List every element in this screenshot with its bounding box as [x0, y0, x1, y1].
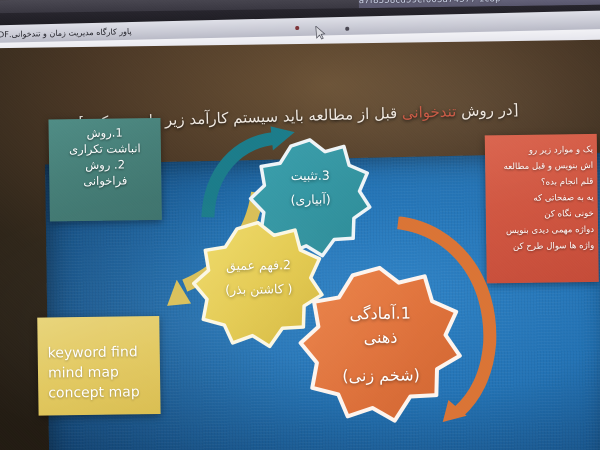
callout-red-line-5: خونی نگاه کن: [492, 206, 594, 223]
photographed-screen: a7f8558cd59ef003a74377 1c8p پاور کارگاه …: [0, 0, 600, 450]
callout-red-line-1: یک و موارد زیر رو: [491, 142, 593, 159]
callout-red-line-6: دواژه مهمی دیدی بنویس: [492, 222, 594, 239]
callout-red: یک و موارد زیر رو اش بنویس و قبل مطالعه …: [485, 134, 599, 284]
callout-red-line-3: قلم انجام بده؟: [491, 174, 593, 191]
callout-teal-line-2: انباشت تکراری: [57, 140, 153, 157]
callout-teal-line-1: 1.روش: [57, 124, 153, 141]
callout-teal-line-3: 2. روش: [57, 156, 153, 173]
slide-title-highlight: تندخوانی: [402, 102, 457, 122]
callout-yellow-line-1: keyword find: [48, 342, 154, 363]
callout-yellow-line-3: concept map: [48, 382, 154, 403]
callout-teal-line-4: فراخوانی: [57, 172, 153, 189]
callout-teal: 1.روش انباشت تکراری 2. روش فراخوانی: [48, 118, 161, 222]
tab-close-icon[interactable]: [295, 26, 299, 30]
gear-1-amadegi-zehni[interactable]: 1.آمادگی ذهنی (شخم زنی): [294, 262, 468, 432]
callout-yellow-line-2: mind map: [48, 362, 154, 383]
gear-1-shape-icon: [294, 262, 468, 432]
callout-red-line-7: واژه ها سوال طرح کن: [492, 238, 594, 255]
mouse-pointer-icon: [315, 25, 326, 40]
callout-red-line-4: یه به صفحاتی که: [492, 190, 594, 207]
slide-title-prefix: [در روش: [456, 100, 519, 120]
callout-yellow: keyword find mind map concept map: [37, 316, 160, 416]
new-tab-icon[interactable]: [345, 27, 349, 31]
callout-red-line-2: اش بنویس و قبل مطالعه: [491, 158, 593, 175]
computer-screen: a7f8558cd59ef003a74377 1c8p پاور کارگاه …: [0, 0, 600, 450]
